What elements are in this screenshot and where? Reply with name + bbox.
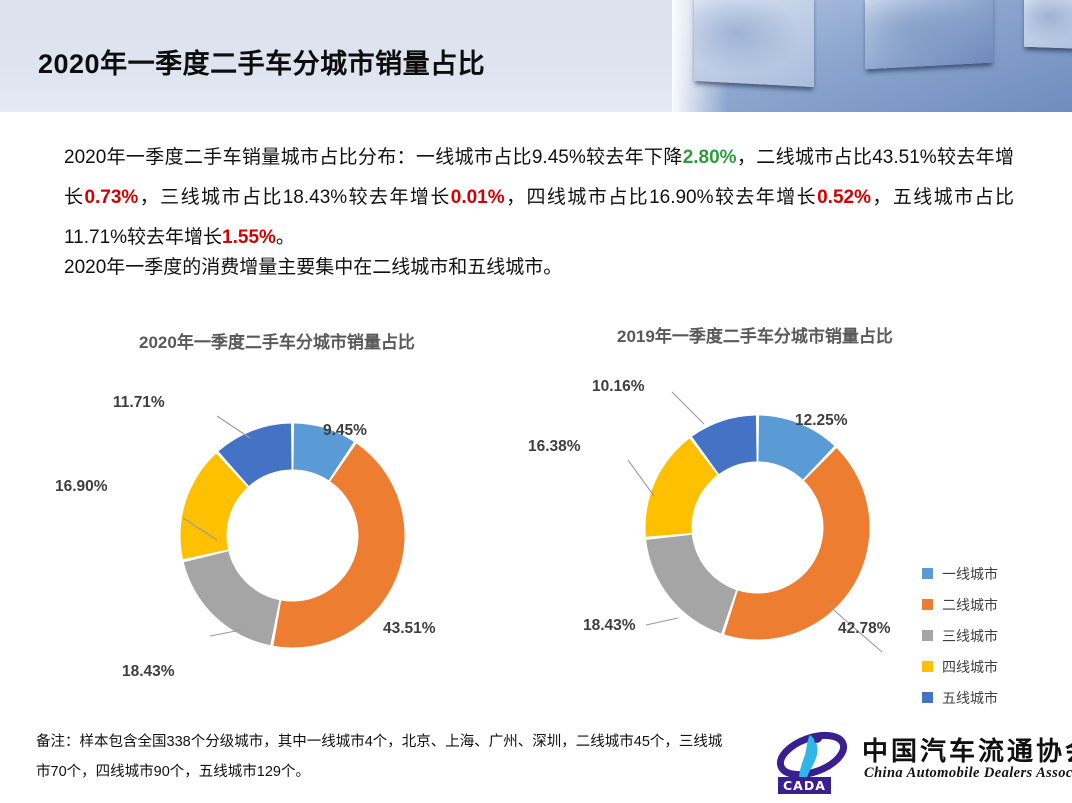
pct-label-2019-tier1: 12.25% [795, 412, 848, 430]
legend-swatch-tier2 [922, 599, 933, 610]
pct-label-2019-tier5: 10.16% [592, 378, 645, 396]
pct-label-2020-tier1: 9.45% [323, 422, 367, 440]
leader-line-五线城市 [217, 416, 250, 438]
donut-segment-二线城市[interactable] [724, 448, 869, 639]
footnote: 备注：样本包含全国338个分级城市，其中一线城市4个，北京、上海、广州、深圳，二… [36, 727, 736, 787]
legend-item-tier5[interactable]: 五线城市 [922, 682, 1052, 713]
pct-label-2020-tier3: 18.43% [122, 663, 175, 681]
cada-name-cn: 中国汽车流通协会 [862, 731, 1072, 768]
legend-item-tier2[interactable]: 二线城市 [922, 589, 1052, 620]
legend-swatch-tier4 [922, 661, 933, 672]
summary-text-part-1: 2020年一季度二手车销量城市占比分布：一线城市占比9.45%较去年下降 [64, 147, 683, 168]
legend-label-tier5: 五线城市 [942, 688, 998, 708]
decorative-cube [694, 0, 814, 87]
pct-label-2020-tier5: 11.71% [113, 394, 165, 412]
highlight-value-tier4: 0.52% [817, 187, 871, 208]
pct-label-2019-tier4: 16.38% [528, 438, 581, 456]
legend-label-tier4: 四线城市 [942, 657, 998, 677]
cada-logo: CADA 中国汽车流通协会 China Automobile Dealers A… [774, 729, 1056, 793]
chart-title-2020: 2020年一季度二手车分城市销量占比 [139, 328, 415, 353]
pct-label-2020-tier2: 43.51% [383, 620, 436, 638]
leader-line-四线城市 [628, 460, 654, 496]
legend-label-tier3: 三线城市 [942, 626, 998, 646]
chart-title-2019: 2019年一季度二手车分城市销量占比 [617, 322, 893, 347]
slide-header: 2020年一季度二手车分城市销量占比 [0, 0, 1072, 112]
highlight-value-tier1: 2.80% [683, 147, 737, 168]
donut-segments-2020 [181, 424, 405, 648]
legend-label-tier2: 二线城市 [942, 595, 998, 615]
charts-region: 2020年一季度二手车分城市销量占比 9.45% 43.51% 18.43% 1… [0, 300, 1072, 710]
legend-swatch-tier1 [922, 568, 933, 579]
cada-name-en: China Automobile Dealers Association [864, 765, 1072, 782]
donut-segment-三线城市[interactable] [646, 535, 736, 634]
page-title: 2020年一季度二手车分城市销量占比 [38, 42, 485, 81]
legend-label-tier1: 一线城市 [942, 564, 998, 584]
header-decorative-image [672, 0, 1072, 112]
highlight-value-tier5: 1.55% [222, 227, 276, 248]
leader-line-三线城市 [646, 618, 678, 625]
pct-label-2020-tier4: 16.90% [55, 478, 108, 496]
summary-text-part-4: ，四线城市占比16.90%较去年增长 [505, 187, 817, 208]
legend-item-tier1[interactable]: 一线城市 [922, 558, 1052, 589]
cada-abbrev: CADA [778, 777, 831, 794]
leader-line-五线城市 [672, 392, 704, 424]
chart-legend: 一线城市 二线城市 三线城市 四线城市 五线城市 [922, 558, 1052, 713]
summary-text-part-6: 。 [276, 227, 295, 248]
legend-swatch-tier3 [922, 630, 933, 641]
donut-segment-二线城市[interactable] [273, 444, 404, 648]
highlight-value-tier3: 0.01% [451, 187, 505, 208]
legend-item-tier4[interactable]: 四线城市 [922, 651, 1052, 682]
highlight-value-tier2: 0.73% [84, 187, 138, 208]
legend-swatch-tier5 [922, 692, 933, 703]
donut-segment-三线城市[interactable] [184, 551, 280, 645]
decorative-cube [1024, 0, 1072, 49]
pct-label-2019-tier2: 42.78% [838, 620, 891, 638]
donut-segments-2019 [646, 416, 870, 640]
legend-item-tier3[interactable]: 三线城市 [922, 620, 1052, 651]
summary-conclusion: 2020年一季度的消费增量主要集中在二线城市和五线城市。 [64, 248, 562, 288]
summary-paragraph: 2020年一季度二手车销量城市占比分布：一线城市占比9.45%较去年下降2.80… [64, 138, 1014, 258]
decorative-cube [865, 0, 993, 69]
leader-line-三线城市 [210, 630, 241, 636]
summary-text-part-3: ，三线城市占比18.43%较去年增长 [138, 187, 450, 208]
pct-label-2019-tier3: 18.43% [583, 617, 636, 635]
